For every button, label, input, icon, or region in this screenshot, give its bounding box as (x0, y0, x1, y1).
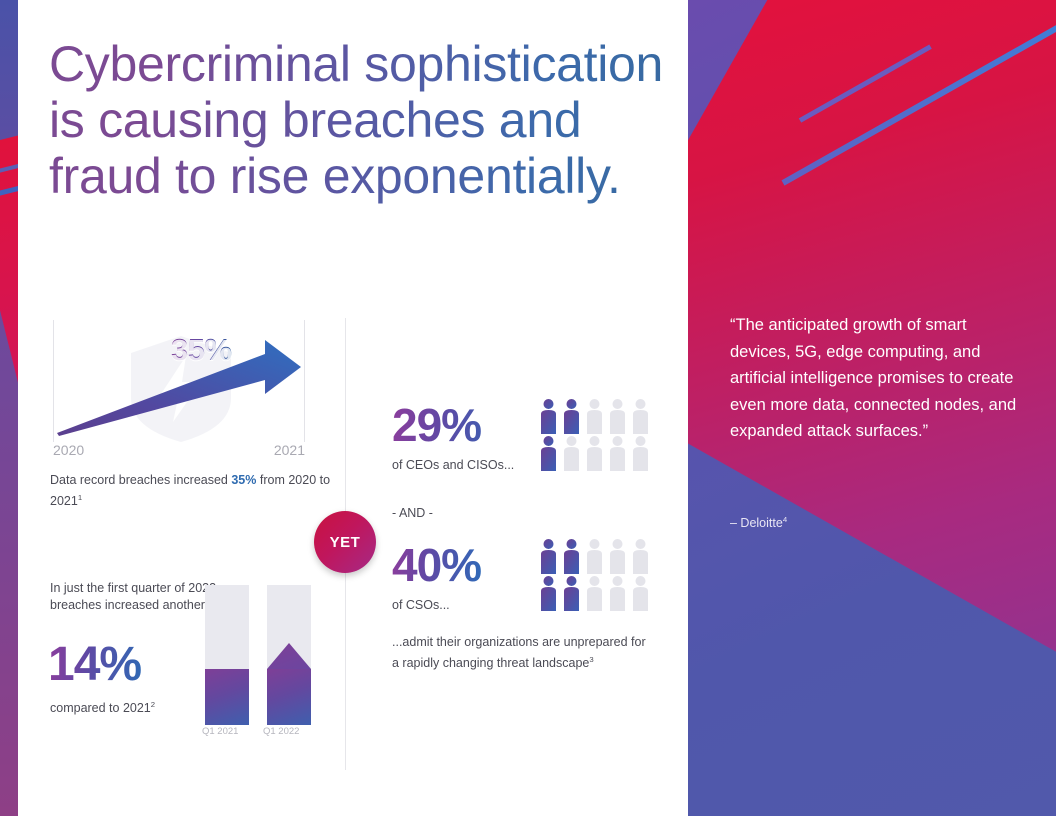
quarter-caption: In just the first quarter of 2022, breac… (50, 580, 230, 614)
stat-block-ceos-cisos: 29% of CEOs and CISOs... (392, 400, 514, 472)
person-icon-filled (561, 398, 582, 434)
person-icon-empty (630, 398, 651, 434)
pictogram-group-40 (538, 538, 653, 612)
person-icon-filled (538, 575, 559, 611)
stat-block-csos: 40% of CSOs... (392, 540, 481, 612)
and-separator: - AND - (392, 506, 433, 520)
person-icon-empty (607, 575, 628, 611)
axis-label-end: 2021 (274, 442, 305, 458)
bar-fill-q1-2021 (205, 669, 249, 725)
quarter-compared: compared to 20212 (50, 700, 155, 715)
person-icon-empty (584, 435, 605, 471)
bar-label-q1-2021: Q1 2021 (202, 726, 238, 737)
trend-arrow-chart: 35% (53, 320, 305, 442)
person-icon-empty (630, 538, 651, 574)
person-icon-filled (561, 575, 582, 611)
person-icon-empty (607, 435, 628, 471)
trend-caption: Data record breaches increased 35% from … (50, 472, 340, 510)
stat-label-40: of CSOs... (392, 598, 481, 612)
left-edge-accent-stripe (0, 0, 18, 816)
person-icon-empty (561, 435, 582, 471)
trend-caption-highlight: 35% (231, 473, 256, 487)
stat-percent-29: 29% (392, 400, 514, 450)
person-icon-filled (538, 398, 559, 434)
quote-source-footnote: 4 (783, 515, 787, 524)
trend-caption-footnote: 1 (78, 493, 82, 502)
stats-footnote-text: ...admit their organizations are unprepa… (392, 635, 646, 670)
bar-column-q1-2021 (205, 585, 249, 725)
person-icon-empty (584, 575, 605, 611)
person-icon-filled (538, 435, 559, 471)
quote-source-name: – Deloitte (730, 516, 783, 530)
pictogram-group-29 (538, 398, 653, 472)
person-icon-empty (630, 575, 651, 611)
page-title: Cybercriminal sophistication is causing … (49, 36, 669, 204)
quarter-compared-text: compared to 2021 (50, 701, 151, 715)
stat-percent-40: 40% (392, 540, 481, 590)
bar-label-q1-2022: Q1 2022 (263, 726, 299, 737)
edge-stripe-base (0, 0, 18, 816)
stat-label-29: of CEOs and CISOs... (392, 458, 514, 472)
bar-fill-q1-2022 (267, 669, 311, 725)
quote-text: “The anticipated growth of smart devices… (730, 312, 1020, 445)
quarter-bar-chart (205, 585, 325, 725)
person-icon-empty (584, 398, 605, 434)
person-icon-empty (607, 398, 628, 434)
person-icon-empty (630, 435, 651, 471)
trend-percent-label: 35% (171, 332, 232, 368)
bar-column-q1-2022 (267, 585, 311, 725)
trend-caption-before: Data record breaches increased (50, 473, 231, 487)
person-icon-empty (607, 538, 628, 574)
person-icon-filled (538, 538, 559, 574)
axis-label-start: 2020 (53, 442, 84, 458)
quote-source: – Deloitte4 (730, 515, 787, 530)
stats-footnote-number: 3 (589, 655, 593, 664)
trend-axis-labels: 2020 2021 (53, 442, 305, 458)
quarter-compared-footnote: 2 (151, 700, 155, 709)
stats-footnote: ...admit their organizations are unprepa… (392, 634, 647, 672)
person-icon-filled (561, 538, 582, 574)
quarter-percent: 14% (48, 637, 141, 692)
yet-badge: YET (314, 511, 376, 573)
slide-root: Cybercriminal sophistication is causing … (0, 0, 1056, 816)
person-icon-empty (584, 538, 605, 574)
